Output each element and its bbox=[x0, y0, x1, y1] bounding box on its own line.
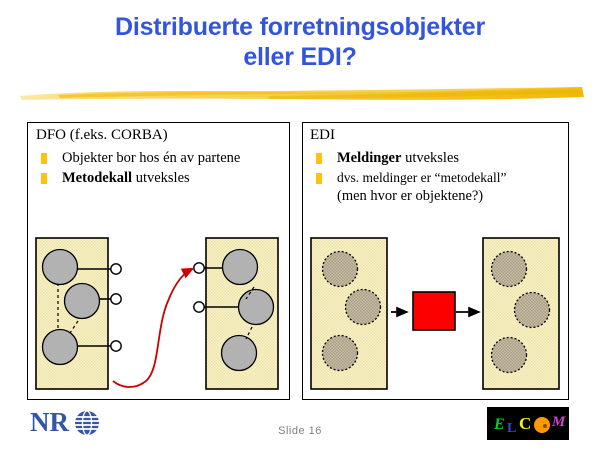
elcom-logo: E L C M bbox=[487, 407, 569, 440]
bullet-marker-icon bbox=[41, 153, 47, 164]
panel-edi-bullets: Meldinger utveksles dvs. meldinger er “m… bbox=[311, 149, 563, 207]
elcom-letter-o-dot bbox=[543, 424, 547, 428]
edi-object-right-2 bbox=[515, 293, 550, 328]
panel-dfo-heading: DFO (f.eks. CORBA) bbox=[36, 127, 168, 144]
panel-dfo-bullets: Objekter bor hos én av partene Metodekal… bbox=[36, 149, 288, 189]
elcom-letter-l: L bbox=[507, 421, 516, 436]
dfo-method-call-connector bbox=[113, 269, 192, 387]
list-item: Objekter bor hos én av partene bbox=[36, 149, 288, 168]
dfo-left-lollipop-3 bbox=[111, 341, 121, 351]
list-item: dvs. meldinger er “metodekall” (men hvor… bbox=[311, 169, 563, 206]
dfo-right-lollipop-2 bbox=[194, 302, 204, 312]
bullet-text: utveksles bbox=[401, 150, 459, 166]
bullet-text-strong: Meldinger bbox=[337, 150, 401, 166]
list-item: Meldinger utveksles bbox=[311, 149, 563, 168]
elcom-letter-m: M bbox=[551, 414, 566, 430]
edi-object-left-3 bbox=[323, 336, 358, 371]
panel-edi-heading: EDI bbox=[310, 127, 335, 144]
dfo-object-left-2 bbox=[65, 284, 100, 319]
bullet-marker-icon bbox=[316, 173, 322, 184]
list-item: Metodekall utveksles bbox=[36, 169, 288, 188]
bullet-subtext: (men hvor er objektene?) bbox=[337, 187, 563, 206]
brush-stroke-divider bbox=[18, 84, 584, 106]
panel-edi: EDI Meldinger utveksles dvs. meldinger e… bbox=[302, 122, 569, 400]
dfo-left-lollipop-1 bbox=[111, 264, 121, 274]
bullet-marker-icon bbox=[41, 173, 47, 184]
dfo-right-lollipop-1 bbox=[194, 263, 204, 273]
dfo-object-left-1 bbox=[43, 250, 78, 285]
bullet-text: utveksles bbox=[132, 170, 190, 186]
elcom-letter-e: E bbox=[493, 416, 505, 433]
bullet-marker-icon bbox=[316, 153, 322, 164]
edi-object-right-1 bbox=[492, 252, 527, 287]
dfo-left-lollipop-2 bbox=[111, 294, 121, 304]
bullet-text: dvs. meldinger er “metodekall” bbox=[337, 170, 506, 185]
edi-object-left-2 bbox=[346, 290, 381, 325]
edi-object-right-3 bbox=[492, 338, 527, 373]
edi-message-block bbox=[413, 292, 455, 330]
dfo-object-right-1 bbox=[223, 250, 258, 285]
page-title-line-1: Distribuerte forretningsobjekter bbox=[115, 13, 485, 41]
dfo-object-right-3 bbox=[222, 336, 257, 371]
dfo-object-right-2 bbox=[239, 290, 274, 325]
page-title-line-2: eller EDI? bbox=[0, 42, 600, 72]
bullet-text-strong: Metodekall bbox=[62, 170, 132, 186]
bullet-text: Objekter bor hos én av partene bbox=[62, 150, 240, 166]
dfo-object-left-3 bbox=[43, 330, 78, 365]
diagram-edi-message bbox=[303, 229, 568, 399]
page-title: Distribuerte forretningsobjekter eller E… bbox=[0, 12, 600, 72]
diagram-distributed-objects bbox=[28, 229, 289, 399]
edi-object-left-1 bbox=[323, 252, 358, 287]
panel-dfo: DFO (f.eks. CORBA) Objekter bor hos én a… bbox=[27, 122, 290, 400]
elcom-letter-o bbox=[534, 417, 550, 433]
elcom-letter-c: C bbox=[519, 414, 531, 433]
